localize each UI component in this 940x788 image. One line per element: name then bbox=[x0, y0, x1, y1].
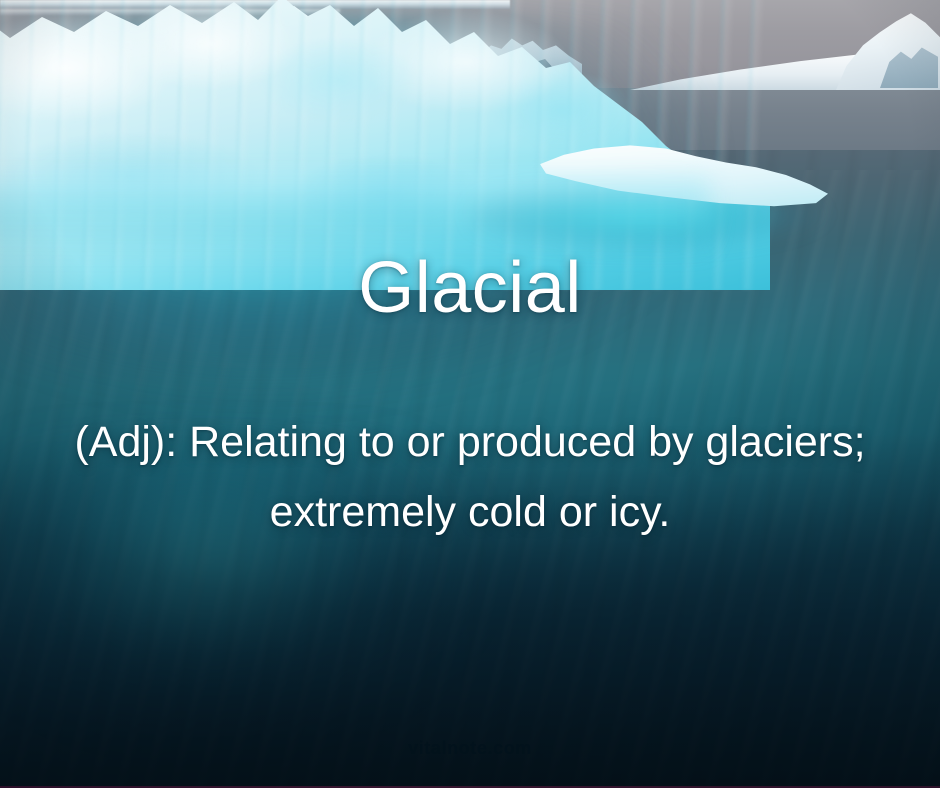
word-title: Glacial bbox=[0, 252, 940, 324]
word-definition: (Adj): Relating to or produced by glacie… bbox=[68, 408, 872, 547]
word-card: Glacial (Adj): Relating to or produced b… bbox=[0, 0, 940, 788]
site-watermark: vitalnote.com bbox=[0, 738, 940, 759]
depth-vignette bbox=[0, 0, 940, 788]
